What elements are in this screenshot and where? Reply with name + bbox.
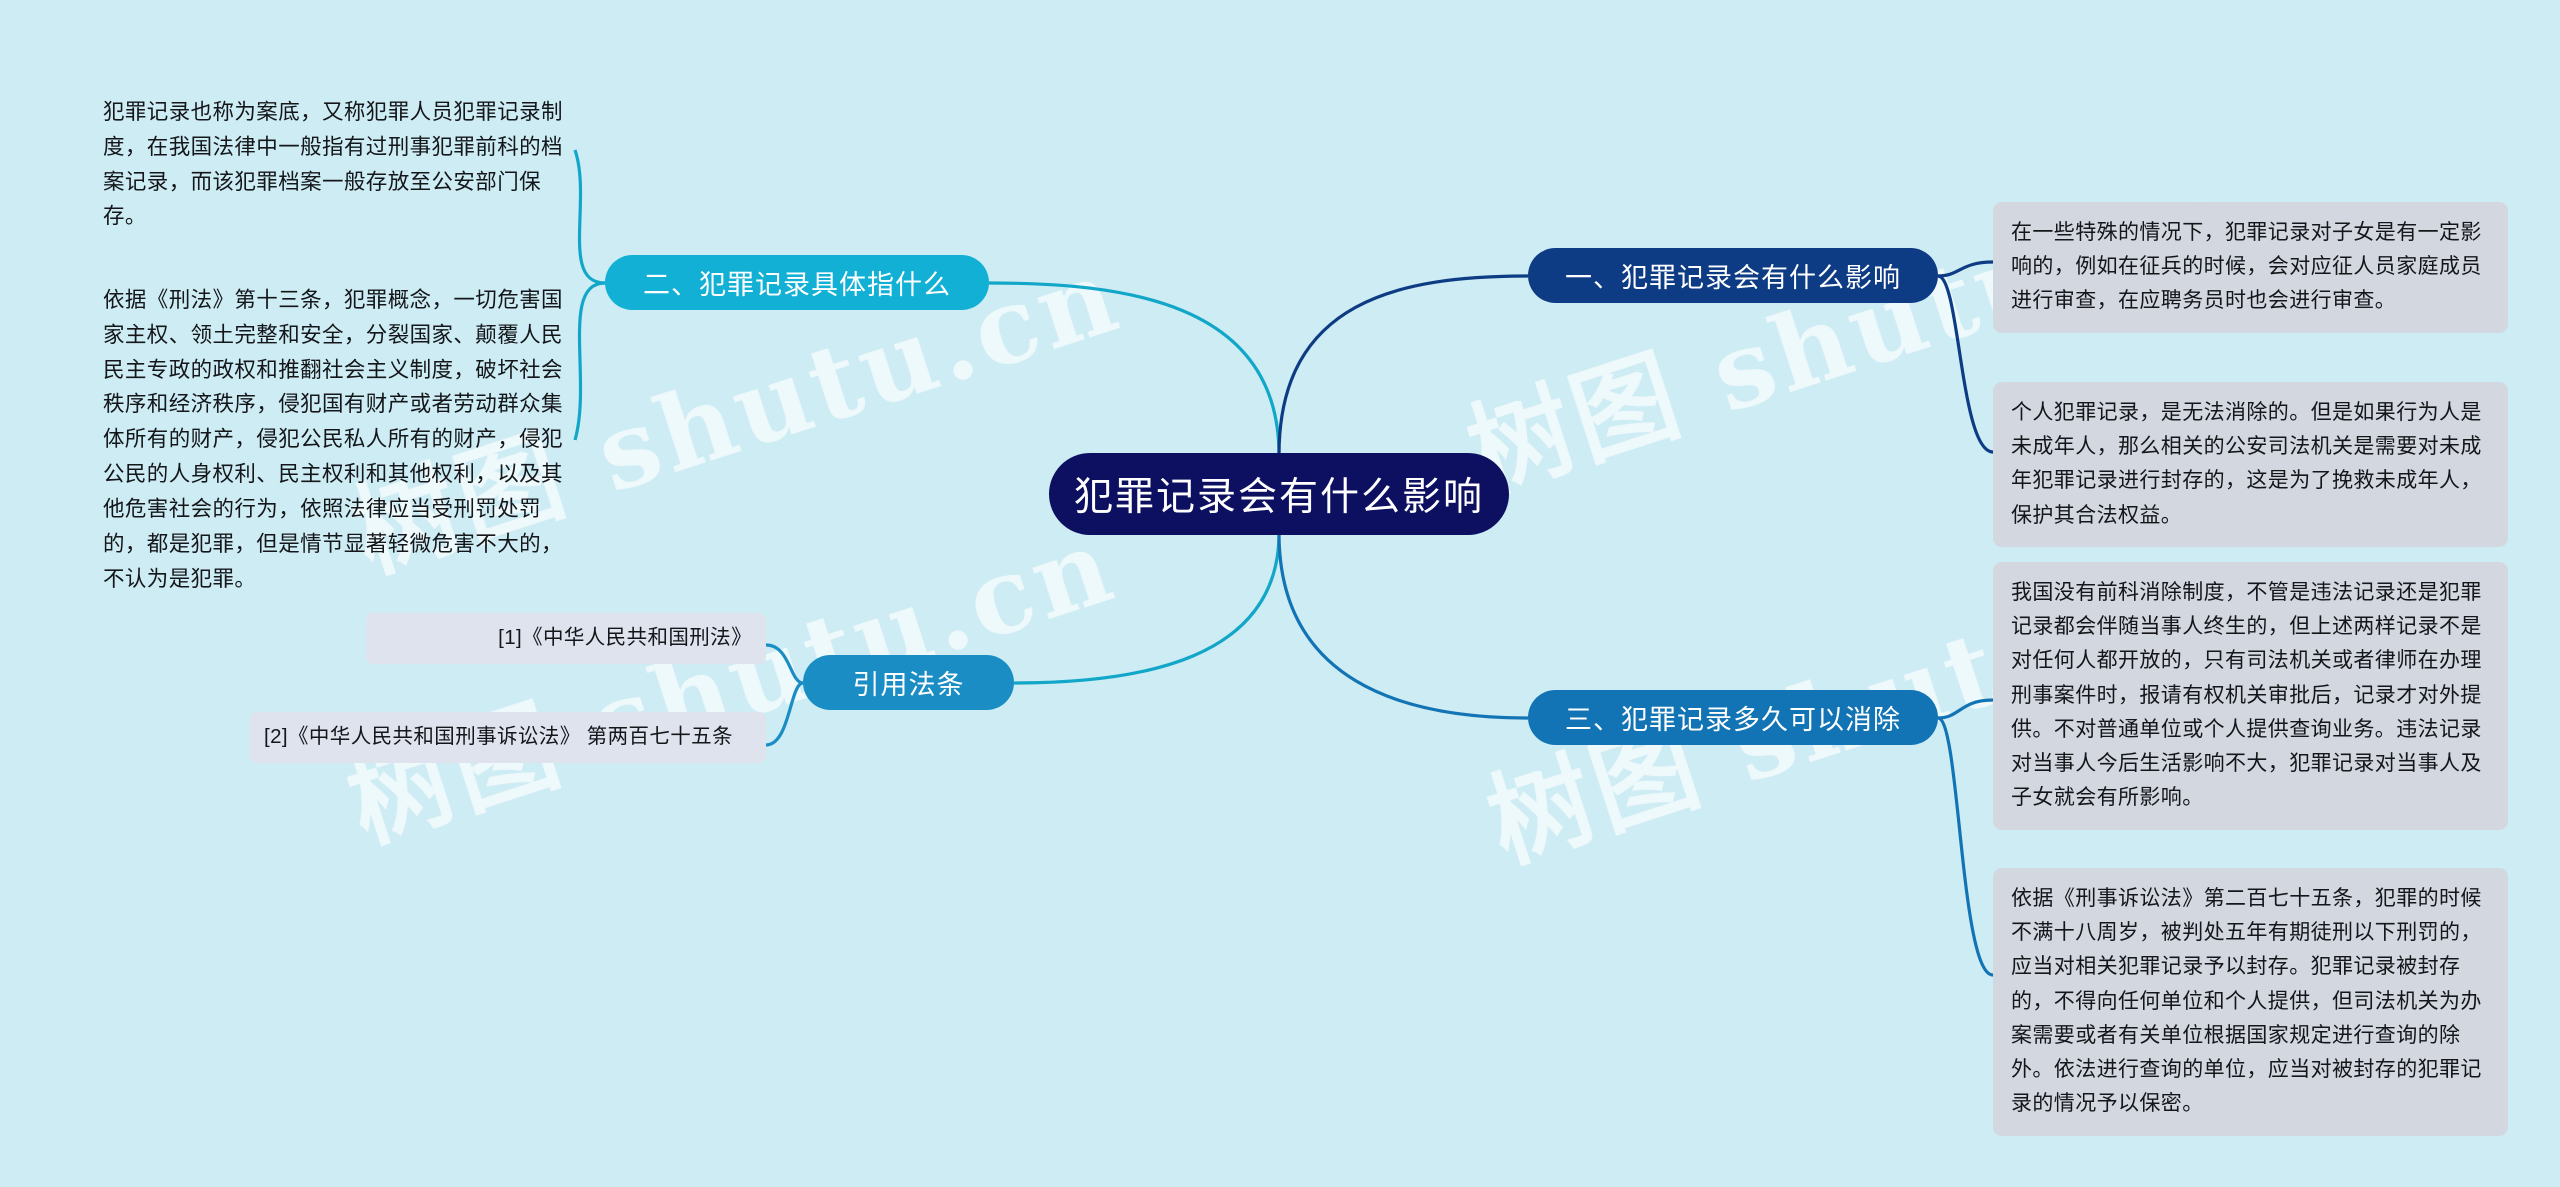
branch-node-two-label: 二、犯罪记录具体指什么 [643,263,951,302]
link-root-to-branch-one [1279,276,1528,455]
link-citation-to-cite-2 [766,683,803,745]
citation-chip-2: [2]《中华人民共和国刑事诉讼法》 第两百七十五条 [250,712,766,763]
branch-node-three[interactable]: 三、犯罪记录多久可以消除 [1528,690,1938,745]
detail-panel-effect-on-children: 在一些特殊的情况下，犯罪记录对子女是有一定影响的，例如在征兵的时候，会对应征人员… [1993,202,2508,333]
link-branch-two-to-text-2 [575,283,605,440]
link-branch-three-to-panel-3 [1938,700,1993,718]
left-text-definition: 犯罪记录也称为案底，又称犯罪人员犯罪记录制度，在我国法律中一般指有过刑事犯罪前科… [103,95,573,234]
root-node-label: 犯罪记录会有什么影响 [1074,466,1484,522]
branch-node-citation[interactable]: 引用法条 [803,655,1014,710]
detail-panel-cannot-be-erased: 个人犯罪记录，是无法消除的。但是如果行为人是未成年人，那么相关的公安司法机关是需… [1993,382,2508,547]
link-root-to-branch-two [989,283,1279,455]
link-branch-two-to-text-1 [575,150,605,283]
link-branch-one-to-panel-2 [1938,276,1993,452]
citation-chip-1: [1]《中华人民共和国刑法》 [366,613,766,664]
branch-node-two[interactable]: 二、犯罪记录具体指什么 [605,255,989,310]
detail-panel-no-record-expungement-system: 我国没有前科消除制度，不管是违法记录还是犯罪记录都会伴随当事人终生的，但上述两样… [1993,562,2508,830]
link-citation-to-cite-1 [766,645,803,683]
link-root-to-citation [1014,533,1279,683]
branch-node-one-label: 一、犯罪记录会有什么影响 [1565,256,1901,295]
left-text-criminal-law-article-13: 依据《刑法》第十三条，犯罪概念，一切危害国家主权、领土完整和安全，分裂国家、颠覆… [103,283,573,596]
branch-node-three-label: 三、犯罪记录多久可以消除 [1565,698,1901,737]
mindmap-canvas: 树图 shutu.cn 树图 shutu.cn 树图 shutu.cn 树图 s… [0,0,2560,1187]
link-branch-three-to-panel-4 [1938,718,1993,975]
detail-panel-criminal-procedure-law-275: 依据《刑事诉讼法》第二百七十五条，犯罪的时候不满十八周岁，被判处五年有期徒刑以下… [1993,868,2508,1136]
root-node[interactable]: 犯罪记录会有什么影响 [1049,453,1509,535]
branch-node-citation-label: 引用法条 [853,663,965,702]
link-branch-one-to-panel-1 [1938,262,1993,276]
branch-node-one[interactable]: 一、犯罪记录会有什么影响 [1528,248,1938,303]
link-root-to-branch-three [1279,533,1528,718]
